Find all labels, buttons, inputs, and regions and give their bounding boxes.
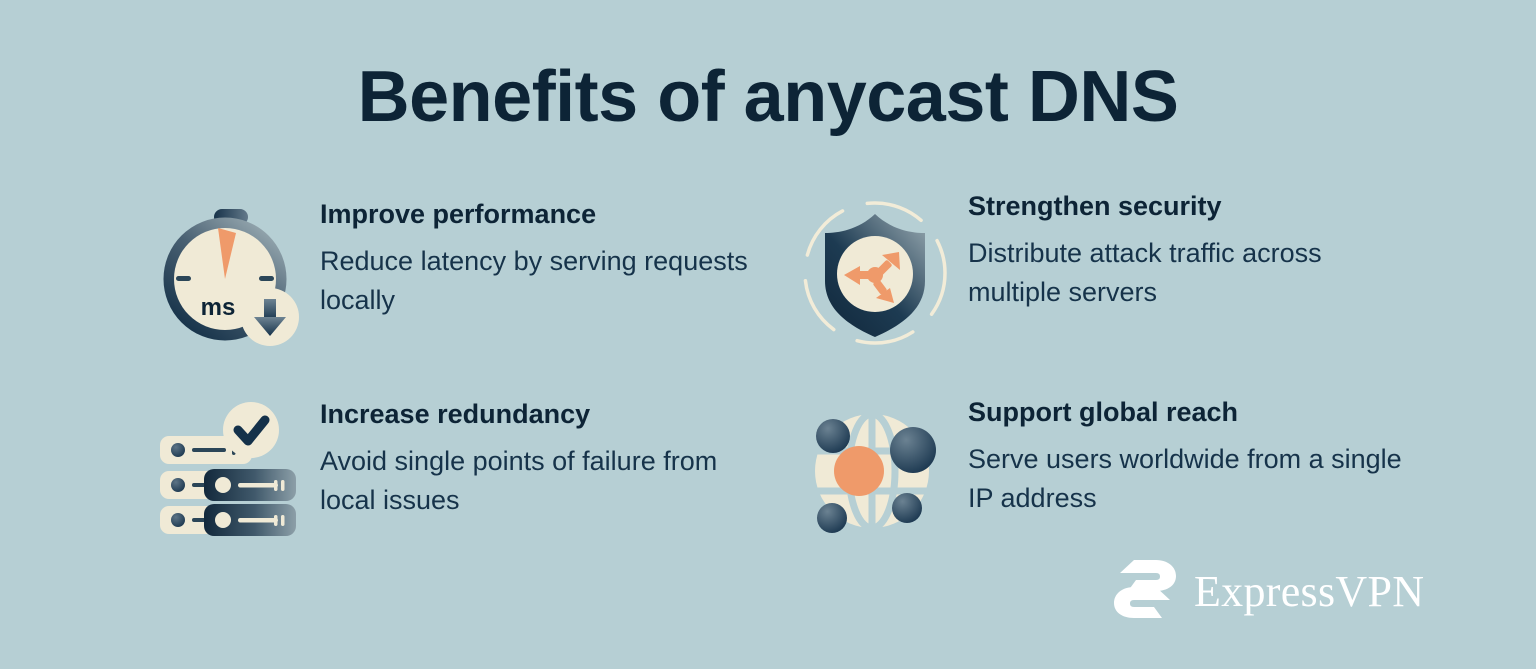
benefit-heading: Improve performance: [320, 198, 750, 230]
benefit-body: Distribute attack traffic across multipl…: [968, 234, 1418, 311]
infographic-canvas: Benefits of anycast DNS: [0, 0, 1536, 669]
server-row: [160, 504, 296, 536]
server-row: [160, 469, 296, 501]
benefit-text-block: Strengthen security Distribute attack tr…: [968, 190, 1418, 311]
benefit-text-block: Improve performance Reduce latency by se…: [320, 198, 750, 319]
globe-hub-node: [834, 446, 884, 496]
brand-logo[interactable]: ExpressVPN: [1110, 556, 1440, 626]
server-stack-icon: [152, 398, 302, 548]
expressvpn-mark-icon: [1110, 556, 1180, 627]
stopwatch-ms-label: ms: [201, 294, 236, 321]
stopwatch-icon: ms: [158, 202, 308, 352]
benefit-body: Reduce latency by serving requests local…: [320, 242, 750, 319]
benefit-heading: Increase redundancy: [320, 398, 750, 430]
globe-node: [816, 419, 850, 453]
globe-node: [817, 503, 847, 533]
benefit-heading: Support global reach: [968, 396, 1418, 428]
benefit-text-block: Support global reach Serve users worldwi…: [968, 396, 1418, 517]
globe-node: [892, 493, 922, 523]
globe-icon: [800, 398, 950, 548]
benefit-body: Serve users worldwide from a single IP a…: [968, 440, 1418, 517]
benefit-heading: Strengthen security: [968, 190, 1418, 222]
benefit-body: Avoid single points of failure from loca…: [320, 442, 750, 519]
globe-node: [890, 427, 936, 473]
page-title: Benefits of anycast DNS: [0, 58, 1536, 137]
shield-icon: [800, 198, 950, 348]
brand-wordmark: ExpressVPN: [1194, 566, 1424, 617]
benefit-text-block: Increase redundancy Avoid single points …: [320, 398, 750, 519]
